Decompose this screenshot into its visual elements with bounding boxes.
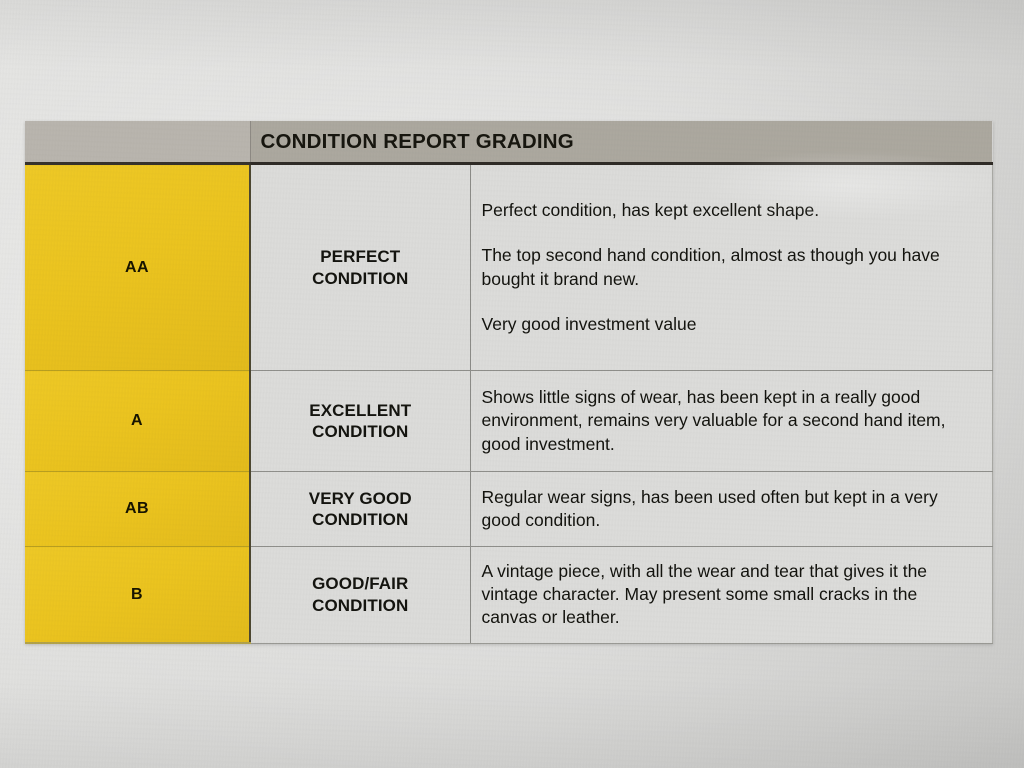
description-paragraph: Very good investment value — [482, 313, 978, 336]
page-title: CONDITION REPORT GRADING — [250, 121, 992, 164]
description-cell-ab: Regular wear signs, has been used often … — [470, 472, 992, 547]
description-cell-aa: Perfect condition, has kept excellent sh… — [470, 164, 992, 371]
condition-name-line2: CONDITION — [312, 596, 408, 615]
condition-name-line2: CONDITION — [312, 510, 408, 529]
table-header-row: CONDITION REPORT GRADING — [25, 121, 992, 164]
condition-report-grading-table: CONDITION REPORT GRADING AA PERFECT COND… — [25, 121, 993, 644]
description-cell-a: Shows little signs of wear, has been kep… — [470, 371, 992, 472]
description-paragraph: Shows little signs of wear, has been kep… — [482, 386, 978, 456]
condition-name-cell-a: EXCELLENT CONDITION — [250, 371, 470, 472]
condition-name-line2: CONDITION — [312, 422, 408, 441]
grade-cell-a: A — [25, 371, 250, 472]
grade-cell-ab: AB — [25, 472, 250, 547]
grade-cell-aa: AA — [25, 164, 250, 371]
condition-name-line1: GOOD/FAIR — [312, 574, 408, 593]
table-row: A EXCELLENT CONDITION Shows little signs… — [25, 371, 992, 472]
condition-name-line1: PERFECT — [320, 247, 400, 266]
description-paragraph: Perfect condition, has kept excellent sh… — [482, 199, 978, 222]
description-paragraph: Regular wear signs, has been used often … — [482, 486, 978, 533]
grade-cell-b: B — [25, 547, 250, 644]
condition-name-cell-ab: VERY GOOD CONDITION — [250, 472, 470, 547]
table-row: B GOOD/FAIR CONDITION A vintage piece, w… — [25, 547, 992, 644]
condition-name-line1: VERY GOOD — [309, 489, 412, 508]
condition-name-cell-b: GOOD/FAIR CONDITION — [250, 547, 470, 644]
description-paragraph: A vintage piece, with all the wear and t… — [482, 560, 978, 630]
description-paragraph: The top second hand condition, almost as… — [482, 244, 978, 291]
description-cell-b: A vintage piece, with all the wear and t… — [470, 547, 992, 644]
condition-name-cell-aa: PERFECT CONDITION — [250, 164, 470, 371]
table-row: AB VERY GOOD CONDITION Regular wear sign… — [25, 472, 992, 547]
table-row: AA PERFECT CONDITION Perfect condition, … — [25, 164, 992, 371]
condition-name-line2: CONDITION — [312, 269, 408, 288]
condition-name-line1: EXCELLENT — [309, 401, 411, 420]
header-blank-cell — [25, 121, 250, 164]
